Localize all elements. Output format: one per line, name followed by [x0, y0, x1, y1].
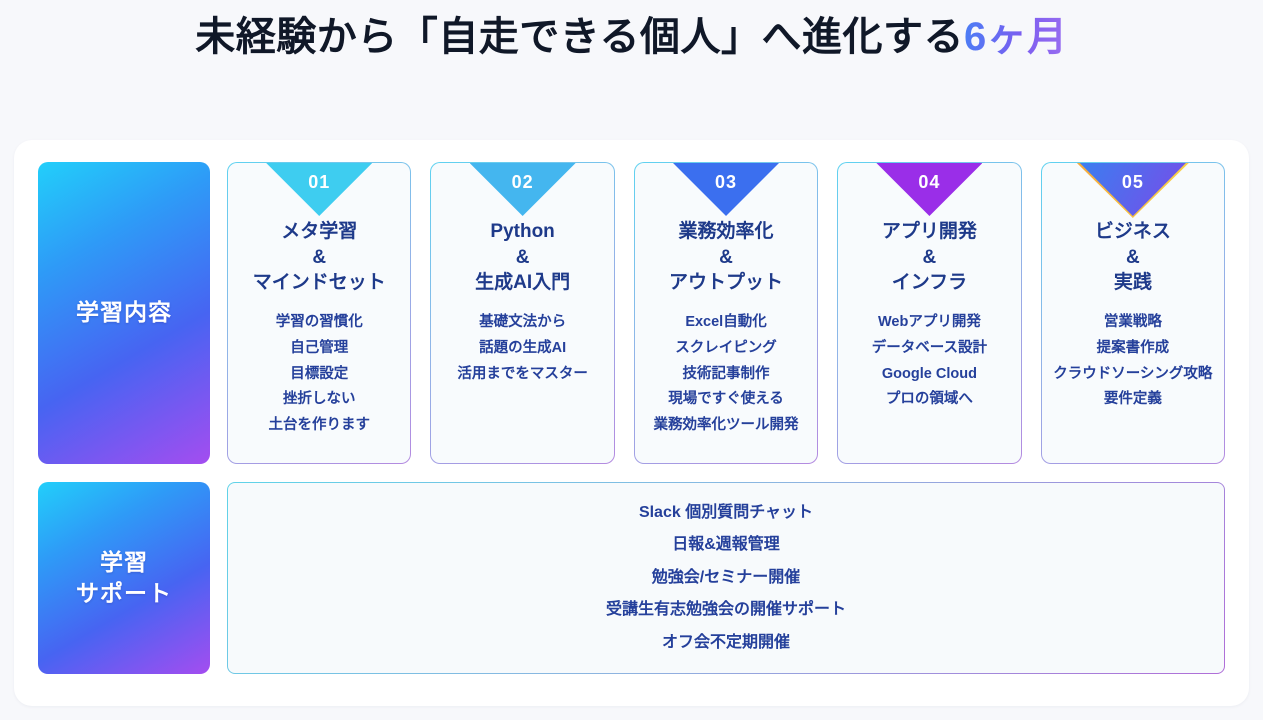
stage-card-item-list: 営業戦略提案書作成クラウドソーシング攻略要件定義: [1048, 310, 1218, 413]
support-item: Slack 個別質問チャット: [606, 497, 846, 529]
stage-card-item-list: Webアプリ開発データベース設計Google Cloudプロの領域へ: [844, 310, 1014, 413]
curriculum-panel: 学習内容 01メタ学習 & マインドセット学習の習慣化自己管理目標設定挫折しない…: [14, 140, 1249, 706]
stage-card-item: Google Cloud: [844, 362, 1014, 388]
stage-card-item: 目標設定: [234, 362, 404, 388]
stage-card-item: 自己管理: [234, 336, 404, 362]
stage-card-item: 業務効率化ツール開発: [641, 413, 811, 439]
stage-card-item: 話題の生成AI: [437, 336, 607, 362]
stage-card-item: 土台を作ります: [234, 413, 404, 439]
stage-card-title: メタ学習 & マインドセット: [234, 219, 404, 296]
stage-card-item: 学習の習慣化: [234, 310, 404, 336]
stage-number-badge: 04: [876, 163, 982, 216]
stage-card[interactable]: 05ビジネス & 実践営業戦略提案書作成クラウドソーシング攻略要件定義: [1041, 162, 1225, 464]
stage-card-item-list: 学習の習慣化自己管理目標設定挫折しない土台を作ります: [234, 310, 404, 439]
stage-card-list: 01メタ学習 & マインドセット学習の習慣化自己管理目標設定挫折しない土台を作り…: [227, 162, 1225, 464]
support-item: 受講生有志勉強会の開催サポート: [606, 594, 846, 626]
stage-number-badge: 05: [1080, 163, 1186, 216]
page-title: 未経験から「自走できる個人」へ進化する6ヶ月: [0, 0, 1263, 61]
stage-number: 04: [876, 172, 982, 193]
stage-card-item: データベース設計: [844, 336, 1014, 362]
stage-number-badge: 03: [673, 163, 779, 216]
stage-card-item: スクレイピング: [641, 336, 811, 362]
support-item: 勉強会/セミナー開催: [606, 562, 846, 594]
support-item: オフ会不定期開催: [606, 627, 846, 659]
stage-card-item-list: Excel自動化スクレイピング技術記事制作現場ですぐ使える業務効率化ツール開発: [641, 310, 811, 439]
support-box: Slack 個別質問チャット日報&週報管理勉強会/セミナー開催受講生有志勉強会の…: [227, 482, 1225, 674]
stage-card-title: アプリ開発 & インフラ: [844, 219, 1014, 296]
stage-card-item: 現場ですぐ使える: [641, 387, 811, 413]
stage-card-item: 要件定義: [1048, 387, 1218, 413]
stage-card-item: 提案書作成: [1048, 336, 1218, 362]
curriculum-row: 学習内容 01メタ学習 & マインドセット学習の習慣化自己管理目標設定挫折しない…: [38, 162, 1225, 464]
stage-card-item: プロの領域へ: [844, 387, 1014, 413]
stage-card-item: 挫折しない: [234, 387, 404, 413]
stage-number: 05: [1080, 172, 1186, 193]
stage-card-title: Python & 生成AI入門: [437, 219, 607, 296]
page-title-accent: 6ヶ月: [964, 15, 1068, 59]
stage-number: 02: [470, 172, 576, 193]
stage-card-title: 業務効率化 & アウトプット: [641, 219, 811, 296]
stage-card[interactable]: 02Python & 生成AI入門基礎文法から話題の生成AI活用までをマスター: [430, 162, 614, 464]
stage-card-item: 基礎文法から: [437, 310, 607, 336]
support-item: 日報&週報管理: [606, 529, 846, 561]
stage-number-badge: 02: [470, 163, 576, 216]
stage-card[interactable]: 01メタ学習 & マインドセット学習の習慣化自己管理目標設定挫折しない土台を作り…: [227, 162, 411, 464]
stage-card-item: 営業戦略: [1048, 310, 1218, 336]
stage-card-item: クラウドソーシング攻略: [1048, 362, 1218, 388]
stage-card-title: ビジネス & 実践: [1048, 219, 1218, 296]
support-item-list: Slack 個別質問チャット日報&週報管理勉強会/セミナー開催受講生有志勉強会の…: [606, 497, 846, 659]
support-row-label: 学習 サポート: [38, 482, 210, 674]
stage-number: 03: [673, 172, 779, 193]
stage-card-item: 技術記事制作: [641, 362, 811, 388]
support-row: 学習 サポート Slack 個別質問チャット日報&週報管理勉強会/セミナー開催受…: [38, 482, 1225, 674]
stage-card[interactable]: 04アプリ開発 & インフラWebアプリ開発データベース設計Google Clo…: [837, 162, 1021, 464]
stage-card-item-list: 基礎文法から話題の生成AI活用までをマスター: [437, 310, 607, 387]
stage-number: 01: [266, 172, 372, 193]
curriculum-row-label: 学習内容: [38, 162, 210, 464]
stage-card-item: Excel自動化: [641, 310, 811, 336]
page-title-prefix: 未経験から「自走できる個人」へ進化する: [195, 15, 964, 59]
stage-card-item: 活用までをマスター: [437, 362, 607, 388]
stage-card-item: Webアプリ開発: [844, 310, 1014, 336]
stage-card[interactable]: 03業務効率化 & アウトプットExcel自動化スクレイピング技術記事制作現場で…: [634, 162, 818, 464]
stage-number-badge: 01: [266, 163, 372, 216]
